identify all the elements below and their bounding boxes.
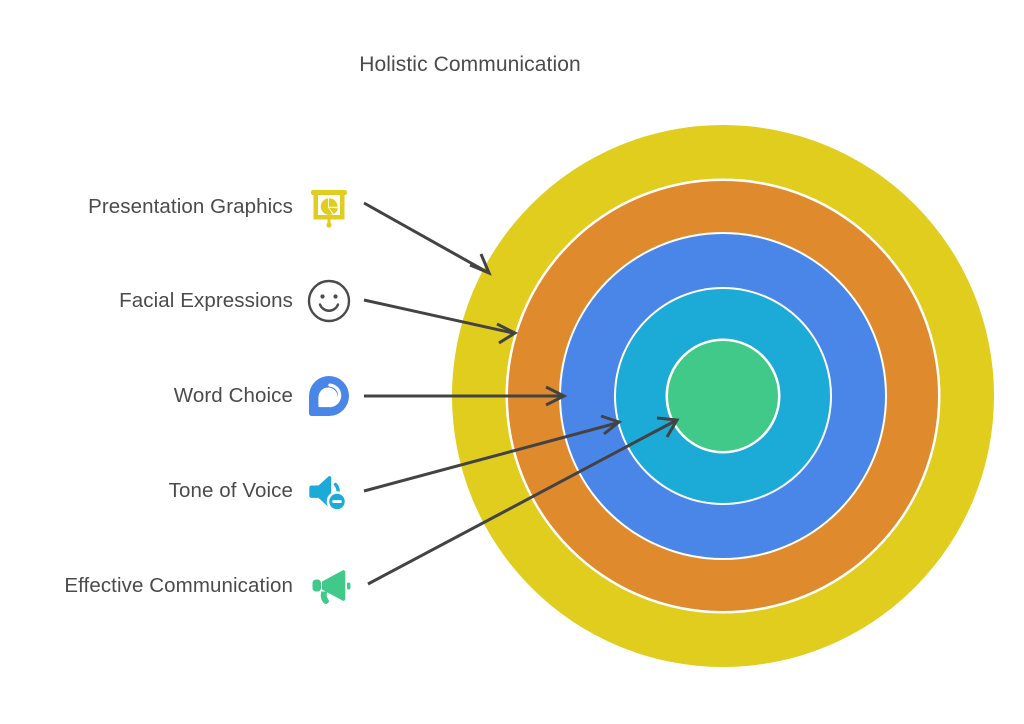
arrow-word-choice (364, 387, 564, 405)
smiley-face-icon (303, 275, 355, 327)
speech-bubble-icon (303, 370, 355, 422)
ring-yellow-presentation-graphics[interactable] (452, 125, 994, 667)
presentation-chart-icon (303, 181, 355, 233)
concentric-rings-chart (0, 0, 1024, 724)
ring-orange-facial-expressions[interactable] (508, 181, 938, 611)
legend-item-facial-expressions[interactable]: Facial Expressions (0, 275, 355, 327)
arrow-connectors (0, 0, 1024, 724)
legend-label-tone-of-voice: Tone of Voice (169, 479, 303, 503)
arrow-effective-communication (368, 418, 677, 584)
legend-label-facial-expressions: Facial Expressions (119, 289, 303, 313)
legend-label-word-choice: Word Choice (174, 384, 303, 408)
diagram-canvas: Holistic Communication (0, 0, 1024, 724)
legend-item-effective-communication[interactable]: Effective Communication (0, 560, 355, 612)
ring-gap-3 (614, 287, 832, 505)
legend-label-presentation-graphics: Presentation Graphics (88, 195, 303, 219)
page-title: Holistic Communication (0, 53, 940, 77)
legend-label-effective-communication: Effective Communication (64, 574, 303, 598)
arrow-presentation-graphics (364, 203, 489, 273)
ring-green-effective-communication[interactable] (668, 341, 778, 451)
ring-blue-word-choice[interactable] (561, 234, 885, 558)
legend-item-presentation-graphics[interactable]: Presentation Graphics (0, 181, 355, 233)
ring-cyan-tone-of-voice[interactable] (616, 289, 830, 503)
ring-gap-4 (666, 339, 781, 454)
arrow-facial-expressions (364, 300, 515, 343)
megaphone-icon (303, 560, 355, 612)
speaker-volume-minus-icon (303, 465, 355, 517)
legend-item-word-choice[interactable]: Word Choice (0, 370, 355, 422)
ring-gap-2 (559, 232, 887, 560)
legend-item-tone-of-voice[interactable]: Tone of Voice (0, 465, 355, 517)
ring-gap-1 (506, 179, 941, 614)
arrow-tone-of-voice (364, 416, 619, 491)
